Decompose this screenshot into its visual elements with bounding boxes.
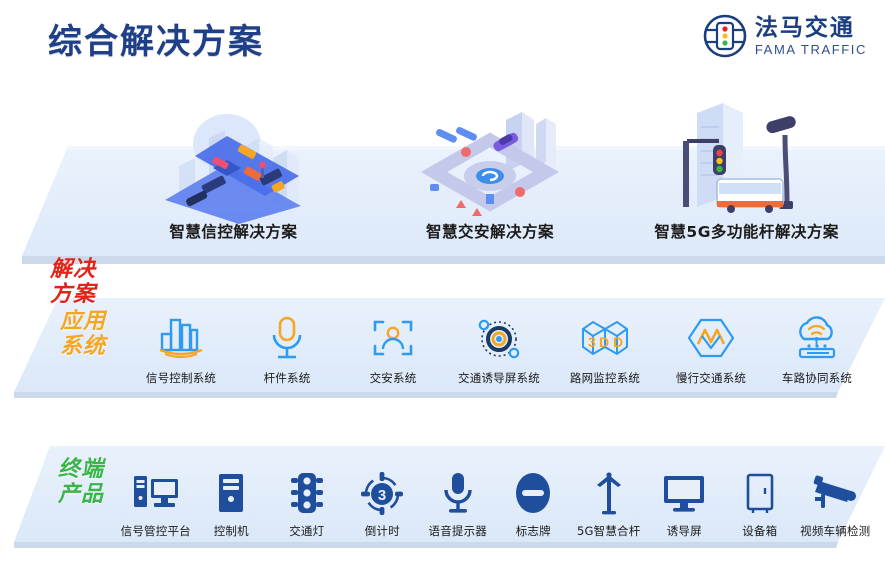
app-item-slow-traffic[interactable]: 慢行交通系统 (658, 292, 764, 404)
control-cabinet-icon (214, 467, 248, 519)
app-item-pole[interactable]: 杆件系统 (234, 292, 340, 404)
solution-item-traffic-safety[interactable]: 智慧交安解决方案 (362, 88, 619, 268)
isometric-ring-road-art (410, 106, 570, 226)
product-label: 信号管控平台 (121, 523, 191, 539)
cloud-wifi-router-icon (791, 312, 843, 364)
band-label-line-1: 应用 (60, 310, 106, 335)
brand-text: 法马交通 FAMA TRAFFIC (755, 16, 867, 56)
band-label-products: 终端 产品 (58, 458, 104, 507)
band-products: 终端 产品 信号管控平台 (0, 440, 885, 555)
countdown-target-icon: 3 (360, 467, 404, 519)
svg-text:D: D (599, 334, 609, 350)
solution-item-smart-pole[interactable]: 智慧5G多功能杆解决方案 (618, 88, 875, 268)
product-item-video-vehicle-detection[interactable]: 视频车辆检测 (798, 440, 874, 555)
solution-item-signal-control[interactable]: 智慧信控解决方案 (105, 88, 362, 268)
radar-target-icon (476, 312, 522, 364)
app-item-traffic-safety[interactable]: 交安系统 (340, 292, 446, 404)
product-label: 设备箱 (742, 523, 777, 539)
product-label: 交通灯 (289, 523, 324, 539)
apps-items: 信号控制系统 杆件系统 (128, 292, 870, 404)
app-label: 交通诱导屏系统 (458, 370, 540, 386)
app-label: 信号控制系统 (146, 370, 216, 386)
product-label: 诱导屏 (667, 523, 702, 539)
band-label-line-1: 解决 (50, 258, 96, 283)
app-label: 杆件系统 (264, 370, 311, 386)
band-label-line-2: 方案 (50, 283, 96, 308)
product-item-equipment-box[interactable]: 设备箱 (722, 440, 798, 555)
product-item-5g-smart-pole[interactable]: 5G智慧合杆 (571, 440, 647, 555)
person-scan-frame-icon (371, 312, 415, 364)
band-label-line-2: 系统 (60, 335, 106, 360)
product-item-sign-board[interactable]: 标志牌 (496, 440, 572, 555)
product-label: 视频车辆检测 (800, 523, 870, 539)
product-item-countdown[interactable]: 3 倒计时 (345, 440, 421, 555)
product-item-signal-platform[interactable]: 信号管控平台 (118, 440, 194, 555)
isometric-smart-pole-art (657, 101, 837, 226)
brand-logo: 法马交通 FAMA TRAFFIC (703, 14, 867, 58)
app-item-guidance-screen[interactable]: 交通诱导屏系统 (446, 292, 552, 404)
products-items: 信号管控平台 控制机 (118, 440, 873, 555)
band-label-line-1: 终端 (58, 458, 104, 483)
band-solutions: 解决 方案 (0, 88, 885, 268)
microphone-pole-icon (267, 312, 307, 364)
countdown-badge: 3 (378, 487, 386, 504)
app-label: 车路协同系统 (782, 370, 852, 386)
solutions-items: 智慧信控解决方案 (105, 88, 875, 268)
band-label-apps: 应用 系统 (60, 310, 106, 359)
app-label: 路网监控系统 (570, 370, 640, 386)
page-title: 综合解决方案 (48, 14, 264, 63)
hexagon-zigzag-icon (687, 312, 735, 364)
svg-text:D: D (613, 334, 623, 350)
traffic-light-icon (289, 467, 325, 519)
smart-pole-icon (589, 467, 629, 519)
app-item-vehicle-road-coordination[interactable]: 车路协同系统 (764, 292, 870, 404)
page-header: 综合解决方案 法马交通 FAMA TRAFFIC (0, 0, 885, 86)
product-label: 标志牌 (516, 523, 551, 539)
cctv-camera-icon (811, 467, 859, 519)
product-label: 倒计时 (365, 523, 400, 539)
fama-circular-emblem-icon (703, 14, 747, 58)
product-label: 语音提示器 (429, 523, 488, 539)
svg-text:3: 3 (588, 334, 596, 350)
city-buildings-icon (156, 312, 206, 364)
microphone-icon (441, 467, 475, 519)
brand-name-cn: 法马交通 (755, 16, 867, 39)
product-item-controller[interactable]: 控制机 (194, 440, 270, 555)
app-item-road-monitoring[interactable]: 3 D D 路网监控系统 (552, 292, 658, 404)
app-label: 交安系统 (370, 370, 417, 386)
no-entry-sign-icon (512, 467, 554, 519)
product-item-voice-prompter[interactable]: 语音提示器 (420, 440, 496, 555)
equipment-box-icon (743, 467, 777, 519)
brand-name-en: FAMA TRAFFIC (755, 43, 867, 56)
product-item-traffic-light[interactable]: 交通灯 (269, 440, 345, 555)
display-screen-icon (662, 467, 706, 519)
product-label: 5G智慧合杆 (577, 523, 640, 539)
desktop-computer-icon (132, 467, 180, 519)
3d-cube-icon: 3 D D (579, 312, 631, 364)
isometric-intersection-art (149, 104, 317, 226)
app-item-signal-control[interactable]: 信号控制系统 (128, 292, 234, 404)
band-label-solutions: 解决 方案 (50, 258, 96, 307)
app-label: 慢行交通系统 (676, 370, 746, 386)
product-item-guidance-screen[interactable]: 诱导屏 (647, 440, 723, 555)
band-apps: 应用 系统 信号控制系统 (0, 292, 885, 404)
product-label: 控制机 (214, 523, 249, 539)
band-label-line-2: 产品 (58, 483, 104, 508)
